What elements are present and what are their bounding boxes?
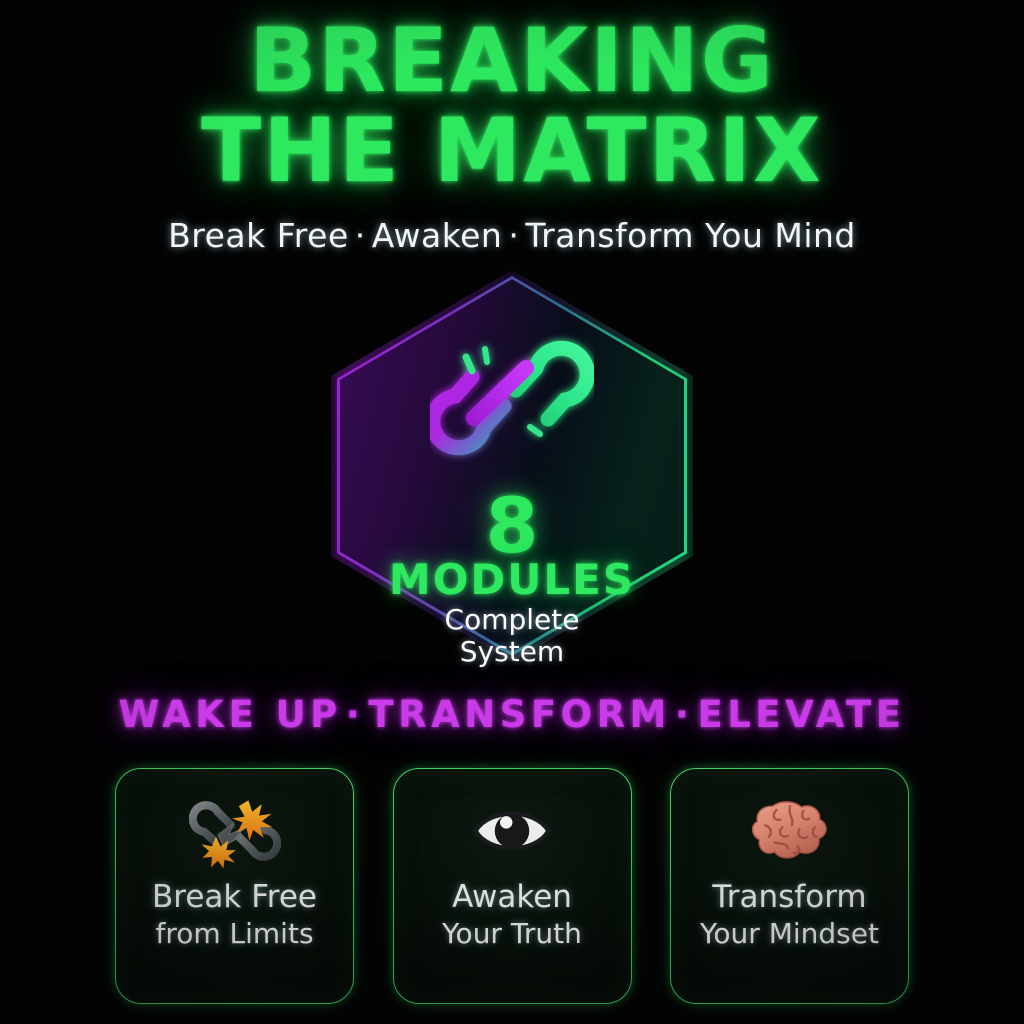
brain-icon [742, 791, 838, 871]
banner-word-3: ELEVATE [697, 693, 905, 736]
feature-card-line-2: Your Truth [442, 916, 582, 951]
poster-canvas: BREAKING THE MATRIX Break Free·Awaken·Tr… [0, 0, 1024, 1024]
banner-word-1: WAKE UP [119, 693, 342, 736]
feature-card-break-free[interactable]: Break Free from Limits [115, 768, 354, 1004]
feature-card-list: Break Free from Limits Awaken Your Truth [115, 768, 909, 1004]
feature-card-awaken[interactable]: Awaken Your Truth [393, 768, 632, 1004]
feature-card-line-1: Transform [700, 879, 879, 916]
badge-subtext-line-2: System [337, 636, 687, 668]
feature-card-text: Transform Your Mindset [700, 879, 879, 951]
subtitle-part-1: Break Free [168, 216, 349, 255]
title-line-1: BREAKING [0, 16, 1024, 106]
badge-subtext: Complete System [337, 604, 687, 668]
feature-card-transform[interactable]: Transform Your Mindset [670, 768, 909, 1004]
modules-count: 8 [337, 488, 687, 564]
broken-chain-burst-icon [187, 791, 283, 871]
subtitle-part-3: Transform You Mind [525, 216, 856, 255]
feature-card-line-2: Your Mindset [700, 916, 879, 951]
badge-subtext-line-1: Complete [445, 603, 580, 636]
subtitle-part-2: Awaken [372, 216, 503, 255]
feature-card-line-2: from Limits [152, 916, 317, 951]
feature-card-line-1: Break Free [152, 879, 317, 916]
feature-card-text: Awaken Your Truth [442, 879, 582, 951]
poster-banner: WAKE UP·TRANSFORM·ELEVATE [0, 693, 1024, 737]
banner-separator-1: · [342, 693, 369, 736]
banner-word-2: TRANSFORM [368, 693, 671, 736]
poster-subtitle: Break Free·Awaken·Transform You Mind [0, 216, 1024, 256]
eye-icon [464, 791, 560, 871]
subtitle-separator-1: · [349, 216, 372, 255]
poster-title: BREAKING THE MATRIX [0, 16, 1024, 196]
modules-label: MODULES [337, 558, 687, 602]
title-line-2: THE MATRIX [0, 106, 1024, 196]
banner-separator-2: · [671, 693, 698, 736]
feature-card-line-1: Awaken [442, 879, 582, 916]
subtitle-separator-2: · [502, 216, 525, 255]
broken-chain-link-icon [430, 324, 594, 474]
feature-card-text: Break Free from Limits [152, 879, 317, 951]
